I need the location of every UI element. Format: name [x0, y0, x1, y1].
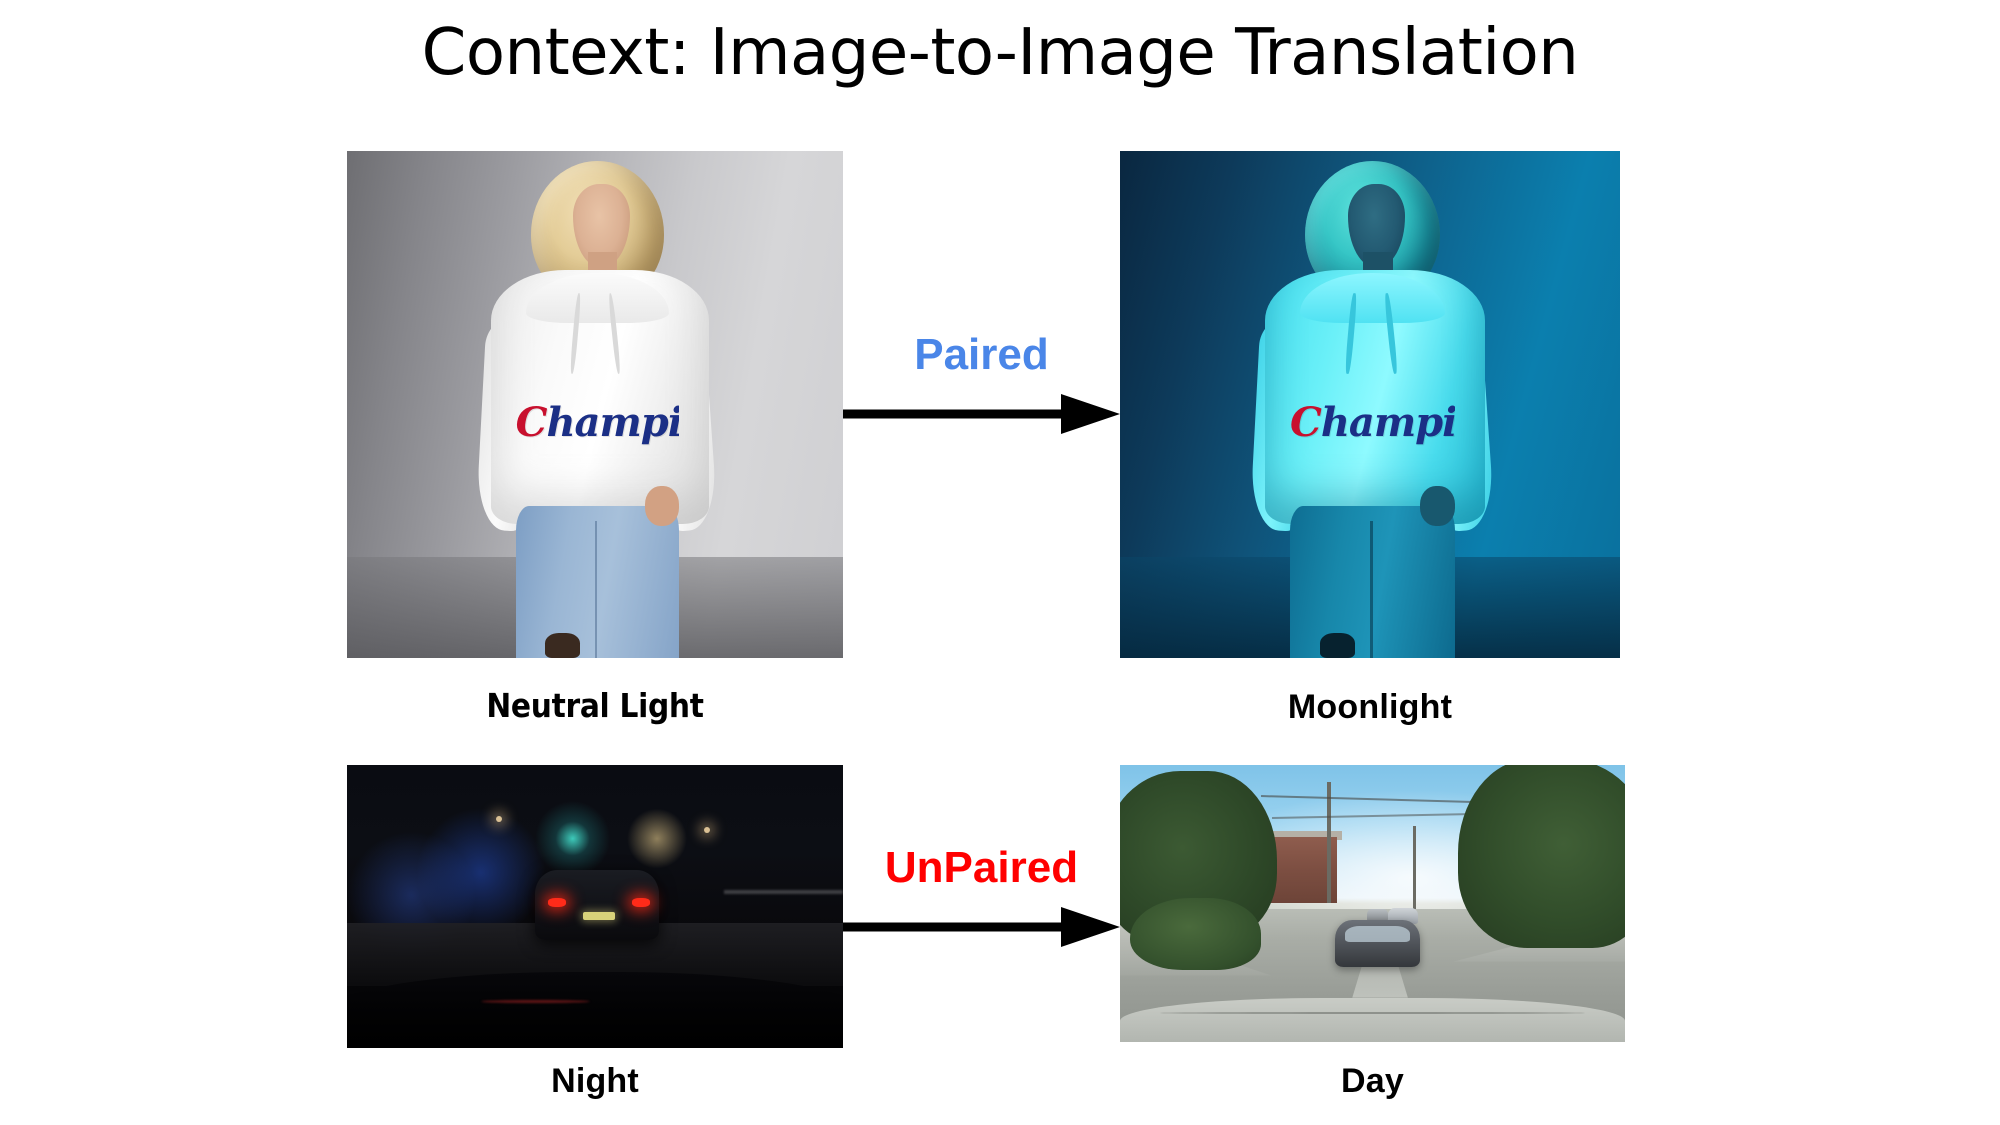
hand-in-pocket	[1420, 486, 1455, 527]
slide-canvas: Context: Image-to-Image Translation Cham…	[0, 0, 2000, 1125]
shoe-shape	[545, 633, 580, 658]
shoe-shape	[1320, 633, 1355, 658]
ego-car-dashboard	[1120, 998, 1625, 1042]
hand-in-pocket	[645, 486, 680, 527]
page-title: Context: Image-to-Image Translation	[0, 14, 2000, 92]
ego-car-hood	[347, 972, 843, 1048]
moonlight-artwork: Champion	[1120, 151, 1620, 658]
tail-light-right	[632, 898, 650, 907]
night-kerb	[724, 890, 843, 895]
license-plate	[583, 912, 615, 919]
image-night	[347, 765, 843, 1048]
unpaired-arrow-icon	[843, 905, 1120, 949]
arrow-label-unpaired: UnPaired	[843, 843, 1120, 893]
day-artwork	[1120, 765, 1625, 1042]
hood-reflection	[481, 1000, 590, 1003]
streetlight-icon	[704, 827, 710, 833]
image-day	[1120, 765, 1625, 1042]
caption-night: Night	[347, 1062, 843, 1101]
image-neutral-light: Champion	[347, 151, 843, 658]
paired-arrow-icon	[843, 392, 1120, 436]
caption-neutral-light: Neutral Light	[347, 686, 843, 725]
jeans-shape	[1290, 506, 1455, 658]
unpaired-arrow-group: UnPaired	[843, 843, 1120, 963]
bush-left	[1130, 898, 1261, 970]
tree-right	[1458, 765, 1625, 948]
utility-pole	[1413, 826, 1417, 909]
image-moonlight: Champion	[1120, 151, 1620, 658]
jeans-seam	[1370, 521, 1373, 658]
champion-logo-text: hampion	[546, 399, 679, 446]
champion-logo: Champion	[516, 399, 680, 447]
night-artwork	[347, 765, 843, 1048]
champion-logo-text: hampion	[1321, 399, 1455, 446]
utility-pole	[1327, 782, 1331, 904]
jeans-seam	[595, 521, 597, 658]
lead-car-window	[1345, 926, 1411, 943]
tail-light-left	[548, 898, 566, 907]
streetlight-icon	[496, 816, 502, 822]
paired-arrow-group: Paired	[843, 330, 1120, 450]
neutral-light-artwork: Champion	[347, 151, 843, 658]
arrow-label-paired: Paired	[843, 330, 1120, 380]
caption-moonlight: Moonlight	[1120, 688, 1620, 727]
caption-day: Day	[1120, 1062, 1625, 1101]
champion-logo: Champion	[1290, 399, 1455, 447]
